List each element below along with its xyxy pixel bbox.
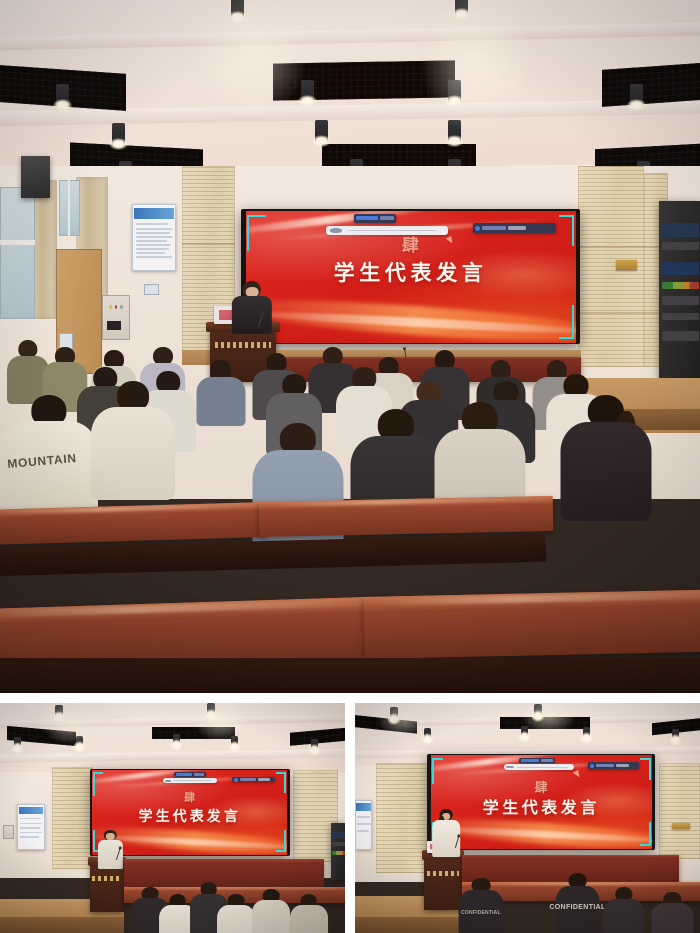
ceiling-light — [173, 734, 180, 746]
curtain — [32, 180, 57, 319]
wall-panel — [659, 763, 700, 860]
ceiling-light — [231, 0, 244, 18]
wall-plate — [672, 823, 689, 830]
browser-address-bar[interactable] — [163, 778, 217, 783]
notice-poster — [355, 800, 372, 851]
stage-edge — [0, 917, 124, 933]
browser-address-bar[interactable] — [326, 226, 448, 236]
capture-corner-marker — [276, 772, 286, 793]
stage-edge — [355, 917, 459, 933]
ceiling-light — [56, 84, 69, 106]
ceiling-light — [231, 736, 238, 748]
photo-collage: 肆 学生代表发言 — [0, 0, 700, 933]
slide-title: 学生代表发言 — [246, 257, 576, 287]
audience-person — [603, 887, 644, 933]
browser-address-bar[interactable] — [504, 764, 575, 770]
ceiling-light — [390, 707, 398, 720]
ceiling-grille — [602, 61, 700, 108]
presentation-slide: 肆 学生代表发言 — [246, 211, 576, 342]
annotation-toolbar[interactable] — [473, 223, 556, 234]
screen-content: 肆 学生代表发言 — [246, 211, 576, 342]
audience-person — [560, 395, 651, 513]
capture-corner-marker — [247, 215, 266, 251]
podium-nameplate — [215, 342, 270, 347]
annotation-toolbar[interactable] — [232, 777, 275, 783]
ceiling-light — [301, 80, 314, 102]
audience-person — [252, 889, 290, 933]
slide-title: 学生代表发言 — [92, 806, 287, 826]
audience-person — [290, 894, 328, 933]
tee-text: CONFIDENTIAL — [549, 904, 605, 911]
ceiling-grille — [500, 717, 590, 729]
capture-corner-marker — [93, 772, 103, 796]
main-photo: 肆 学生代表发言 — [0, 0, 700, 693]
speaker-person — [433, 809, 461, 855]
ceiling-light — [448, 120, 461, 142]
ceiling-grille — [152, 727, 235, 740]
thumb-right-photo: 肆 学生代表发言 — [355, 703, 700, 933]
capture-corner-marker — [559, 305, 574, 339]
capture-corner-marker — [640, 822, 651, 847]
screen-content: 肆 学生代表发言 — [431, 755, 652, 849]
ceiling-light — [112, 123, 125, 145]
ceiling-light — [521, 726, 528, 738]
capture-corner-marker — [559, 215, 574, 246]
led-screen: 肆 学生代表发言 — [427, 754, 655, 851]
ceiling-light — [672, 729, 679, 741]
podium — [424, 850, 462, 910]
podium-nameplate — [92, 876, 121, 881]
audience-person: CONFIDENTIAL — [459, 878, 504, 933]
capture-corner-marker — [276, 830, 286, 852]
podium-nameplate — [427, 871, 459, 876]
annotation-toolbar[interactable] — [588, 762, 638, 769]
wall-speaker — [21, 156, 50, 198]
ceiling-light — [583, 727, 590, 739]
capture-corner-marker — [432, 758, 443, 784]
led-screen: 肆 学生代表发言 — [241, 209, 581, 344]
ceiling — [0, 0, 700, 187]
equipment-rack — [659, 201, 700, 381]
capture-corner-marker — [640, 758, 651, 781]
screen-share-toolbar[interactable] — [354, 214, 396, 223]
slide-title: 学生代表发言 — [431, 794, 652, 818]
ceiling-light — [448, 80, 461, 102]
notice-poster — [132, 204, 177, 271]
screen-share-toolbar[interactable] — [174, 772, 206, 777]
audience-person — [196, 360, 245, 422]
ceiling-light — [630, 84, 643, 106]
control-panel[interactable] — [102, 295, 131, 341]
auditorium-chair — [574, 638, 700, 693]
ceiling-light — [207, 703, 215, 716]
window — [0, 187, 35, 319]
screen-share-toolbar[interactable] — [519, 758, 555, 764]
ceiling-light — [14, 737, 21, 749]
audience-person — [217, 894, 255, 933]
control-panel[interactable] — [3, 825, 13, 839]
tee-text: CONFIDENTIAL — [461, 910, 501, 916]
audience-person — [652, 892, 693, 933]
ceiling-light — [311, 739, 318, 751]
wall-sign — [144, 284, 159, 295]
equipment-rack — [331, 823, 345, 881]
ceiling-light — [455, 0, 468, 15]
speaker-person — [231, 281, 273, 333]
slide-section-number: 肆 — [92, 789, 287, 805]
ceiling-light — [55, 705, 63, 718]
audience-person: CONFIDENTIAL — [555, 873, 600, 933]
ceiling-light — [315, 120, 328, 142]
auditorium-chair — [420, 631, 546, 693]
notice-poster — [17, 804, 45, 850]
ceiling-light — [534, 704, 542, 717]
wall-plate — [616, 260, 637, 270]
presentation-slide: 肆 学生代表发言 — [431, 755, 652, 849]
thumb-left-photo: 肆 学生代表发言 — [0, 703, 345, 933]
ceiling-light — [424, 728, 431, 740]
window — [59, 180, 80, 235]
wall-panel — [52, 767, 93, 868]
ceiling-light — [76, 736, 83, 748]
